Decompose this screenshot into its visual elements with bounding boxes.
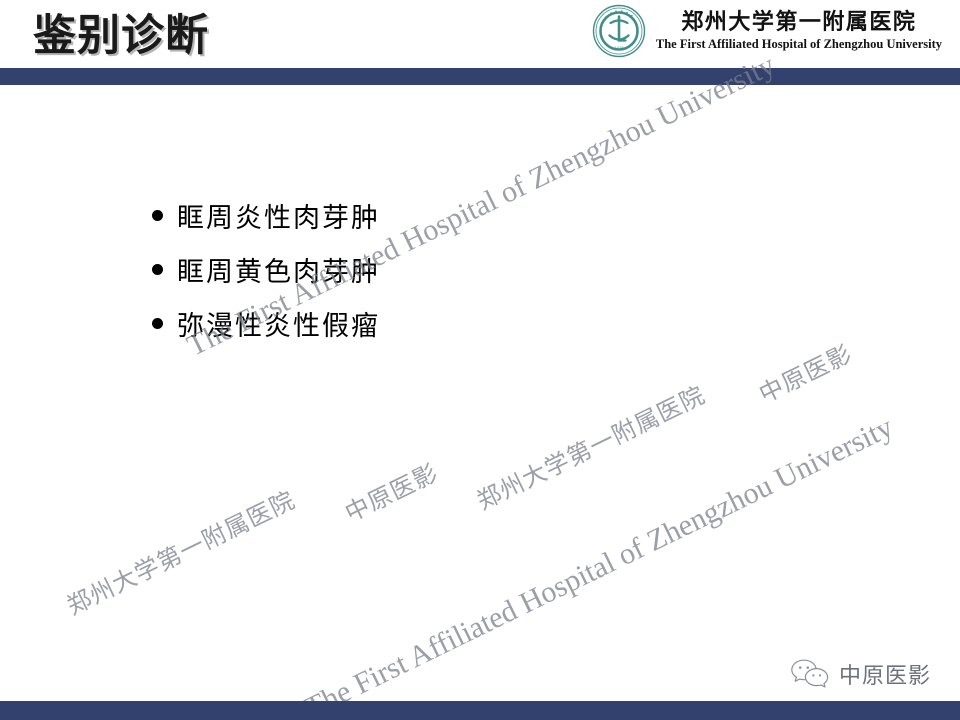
page-title: 鉴别诊断 (33, 10, 209, 62)
list-item: 眶周炎性肉芽肿 (152, 188, 380, 242)
presentation-slide: 鉴别诊断 1928 郑州大学第一附属医院 The First Affi (0, 0, 960, 720)
list-item-label: 弥漫性炎性假瘤 (177, 304, 380, 343)
header-accent-bar (0, 68, 960, 85)
watermark-hospital-cn: 郑州大学第一附属医院 (470, 375, 710, 516)
slide-body: 眶周炎性肉芽肿 眶周黄色肉芽肿 弥漫性炎性假瘤 The First Affili… (0, 85, 960, 701)
watermark-hospital-cn: 郑州大学第一附属医院 (60, 480, 300, 621)
list-item: 眶周黄色肉芽肿 (152, 242, 380, 296)
bullet-dot-icon (152, 264, 163, 275)
list-item-label: 眶周黄色肉芽肿 (177, 250, 380, 289)
differential-diagnosis-list: 眶周炎性肉芽肿 眶周黄色肉芽肿 弥漫性炎性假瘤 (152, 188, 380, 350)
hospital-name-block: 郑州大学第一附属医院 The First Affiliated Hospital… (656, 12, 942, 51)
bullet-dot-icon (152, 318, 163, 329)
hospital-name-en: The First Affiliated Hospital of Zhengzh… (656, 38, 942, 51)
bullet-dot-icon (152, 210, 163, 221)
hospital-name-cn: 郑州大学第一附属医院 (681, 12, 916, 34)
wechat-icon (790, 658, 830, 690)
footer-accent-bar (0, 701, 960, 720)
watermark-channel-cn: 中原医影 (338, 453, 443, 528)
watermark-channel-cn: 中原医影 (752, 334, 857, 409)
wechat-label: 中原医影 (839, 658, 931, 690)
hospital-brand: 1928 郑州大学第一附属医院 The First Affiliated Hos… (592, 4, 942, 58)
slide-header: 鉴别诊断 1928 郑州大学第一附属医院 The First Affi (0, 0, 960, 68)
list-item-label: 眶周炎性肉芽肿 (177, 196, 380, 235)
list-item: 弥漫性炎性假瘤 (152, 296, 380, 350)
hospital-emblem-icon: 1928 (592, 4, 646, 58)
wechat-badge: 中原医影 (790, 658, 931, 690)
svg-text:1928: 1928 (614, 46, 624, 51)
